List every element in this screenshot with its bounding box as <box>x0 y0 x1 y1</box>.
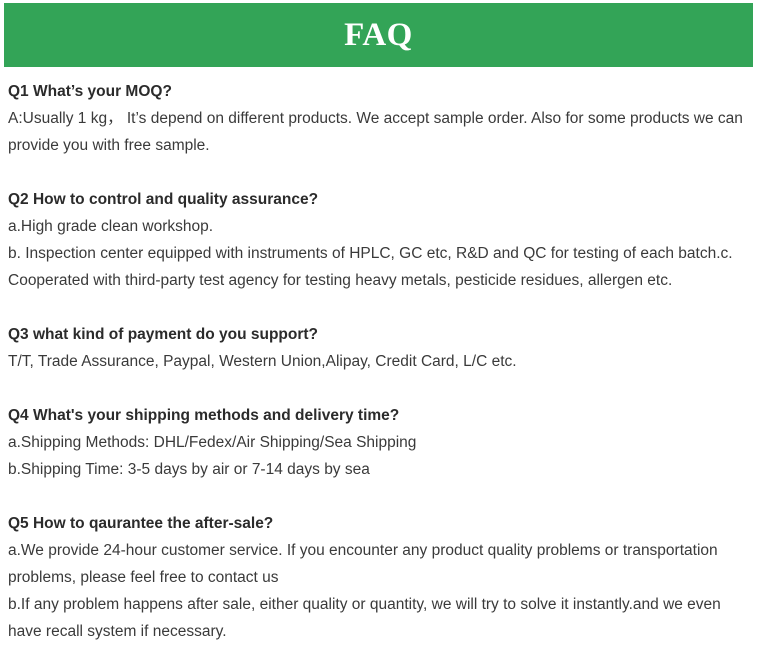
faq-answer: a.Shipping Methods: DHL/Fedex/Air Shippi… <box>8 429 748 456</box>
faq-answer-group: a.High grade clean workshop. b. Inspecti… <box>8 213 748 294</box>
faq-answer: b.If any problem happens after sale, eit… <box>8 591 748 645</box>
faq-question: Q4 What's your shipping methods and deli… <box>8 402 748 429</box>
faq-list: Q1 What’s your MOQ? A:Usually 1 kg， It’s… <box>8 78 748 645</box>
faq-item: Q4 What's your shipping methods and deli… <box>8 402 748 483</box>
faq-answer-group: a.We provide 24-hour customer service. I… <box>8 537 748 645</box>
faq-answer: b. Inspection center equipped with instr… <box>8 240 748 294</box>
faq-question: Q2 How to control and quality assurance? <box>8 186 748 213</box>
faq-answer: a.High grade clean workshop. <box>8 213 748 240</box>
faq-answer-group: A:Usually 1 kg， It’s depend on different… <box>8 105 748 159</box>
faq-answer: T/T, Trade Assurance, Paypal, Western Un… <box>8 348 748 375</box>
faq-page: FAQ Q1 What’s your MOQ? A:Usually 1 kg， … <box>0 0 757 612</box>
faq-item: Q2 How to control and quality assurance?… <box>8 186 748 294</box>
faq-answer: a.We provide 24-hour customer service. I… <box>8 537 748 591</box>
faq-question: Q1 What’s your MOQ? <box>8 78 748 105</box>
page-title: FAQ <box>344 19 413 52</box>
faq-answer-group: T/T, Trade Assurance, Paypal, Western Un… <box>8 348 748 375</box>
faq-item: Q1 What’s your MOQ? A:Usually 1 kg， It’s… <box>8 78 748 159</box>
faq-question: Q3 what kind of payment do you support? <box>8 321 748 348</box>
faq-item: Q3 what kind of payment do you support? … <box>8 321 748 375</box>
faq-question: Q5 How to qaurantee the after-sale? <box>8 510 748 537</box>
faq-banner: FAQ <box>4 3 753 67</box>
faq-answer: b.Shipping Time: 3-5 days by air or 7-14… <box>8 456 748 483</box>
faq-answer: A:Usually 1 kg， It’s depend on different… <box>8 105 748 159</box>
faq-answer-group: a.Shipping Methods: DHL/Fedex/Air Shippi… <box>8 429 748 483</box>
faq-item: Q5 How to qaurantee the after-sale? a.We… <box>8 510 748 645</box>
